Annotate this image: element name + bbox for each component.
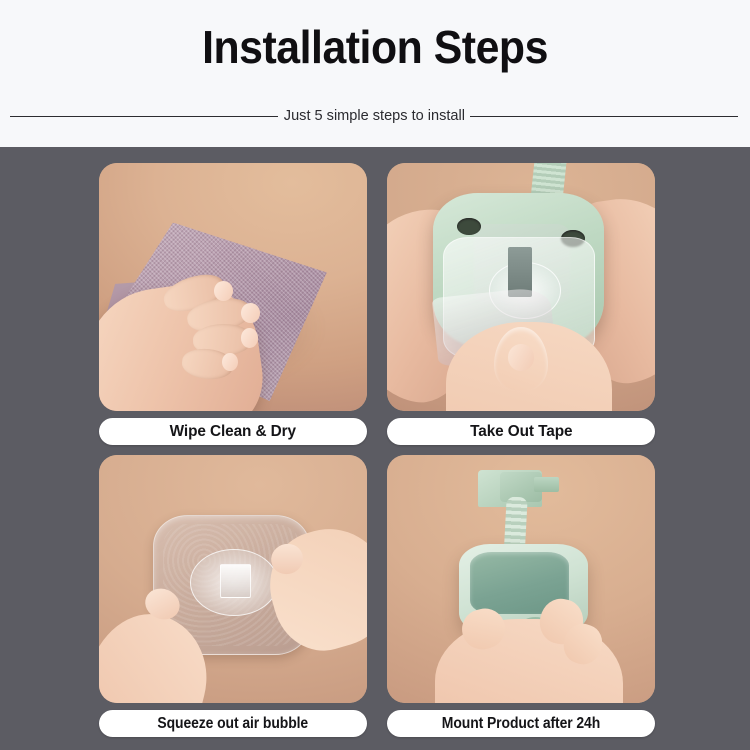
header-band: Installation Steps Just 5 simple steps t… — [0, 0, 750, 147]
step-caption-3: Squeeze out air bubble — [99, 710, 367, 737]
step-caption-1-label: Wipe Clean & Dry — [170, 423, 296, 441]
page-subtitle: Just 5 simple steps to install — [281, 106, 468, 126]
step-caption-4-label: Mount Product after 24h — [442, 715, 600, 733]
divider-right — [470, 116, 738, 117]
fingernail — [241, 328, 258, 348]
wall-bracket-tab — [534, 477, 558, 492]
fingernail — [241, 303, 260, 323]
step-caption-1: Wipe Clean & Dry — [99, 418, 367, 445]
screw-hole — [457, 218, 481, 235]
step-photo-mount-product — [387, 455, 655, 703]
pad-clip — [220, 564, 251, 598]
step-photo-take-out-tape — [387, 163, 655, 411]
step-caption-4: Mount Product after 24h — [387, 710, 655, 737]
step-card-1: Wipe Clean & Dry — [99, 163, 367, 411]
fingernail — [214, 281, 233, 301]
step-photo-wipe-clean — [99, 163, 367, 411]
step-caption-3-label: Squeeze out air bubble — [158, 715, 309, 733]
step-card-4: Mount Product after 24h — [387, 455, 655, 703]
step-photo-squeeze-air-bubble — [99, 455, 367, 703]
subtitle-row: Just 5 simple steps to install — [10, 104, 738, 128]
divider-left — [10, 116, 278, 117]
installation-steps-infographic: Installation Steps Just 5 simple steps t… — [0, 0, 750, 750]
step-caption-2-label: Take Out Tape — [470, 423, 572, 441]
page-title: Installation Steps — [26, 18, 724, 76]
step-card-2: Take Out Tape — [387, 163, 655, 411]
step-caption-2: Take Out Tape — [387, 418, 655, 445]
step-card-3: Squeeze out air bubble — [99, 455, 367, 703]
steps-grid: Wipe Clean & Dry — [0, 147, 750, 750]
